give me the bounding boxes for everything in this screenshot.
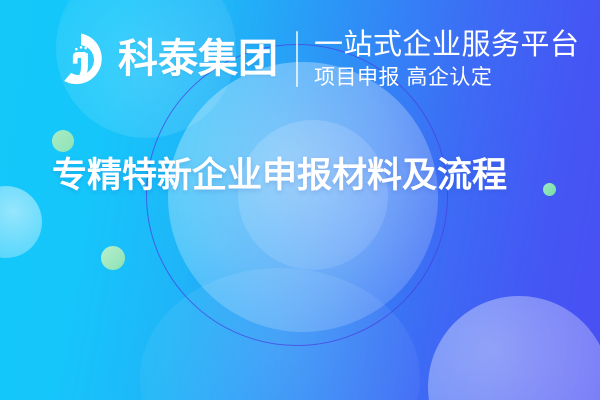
- ketai-circular-logo-icon: [52, 30, 110, 88]
- green-dot-upper-left: [52, 130, 74, 152]
- slogan-secondary: 项目申报 高企认定: [314, 67, 580, 88]
- bottom-right-circle: [428, 296, 600, 400]
- page-title: 专精特新企业申报材料及流程: [52, 156, 507, 196]
- slogan-primary: 一站式企业服务平台: [314, 31, 580, 60]
- left-edge-circle: [0, 186, 42, 258]
- green-dot-right: [543, 183, 556, 196]
- brand-lockup: 科泰集团 一站式企业服务平台 项目申报 高企认定: [52, 30, 580, 88]
- bottom-center-glow-circle: [140, 268, 420, 400]
- promo-banner: 科泰集团 一站式企业服务平台 项目申报 高企认定 专精特新企业申报材料及流程: [0, 0, 600, 400]
- brand-name: 科泰集团: [118, 39, 278, 79]
- slogan-block: 一站式企业服务平台 项目申报 高企认定: [314, 31, 580, 88]
- banner-header: 科泰集团 一站式企业服务平台 项目申报 高企认定: [0, 0, 600, 118]
- vertical-divider: [296, 31, 298, 87]
- green-dot-lower-left: [101, 246, 125, 270]
